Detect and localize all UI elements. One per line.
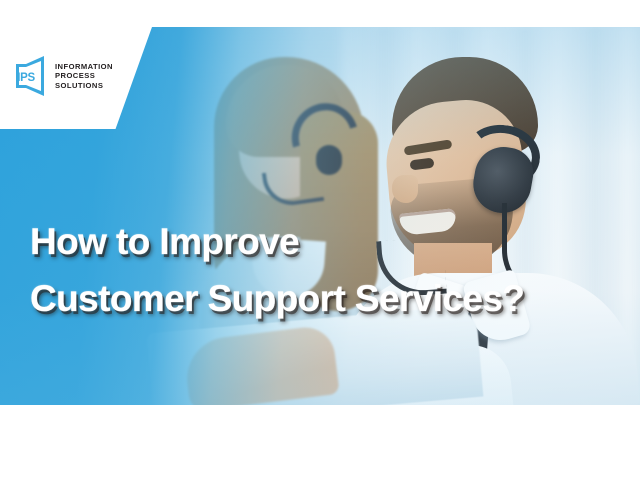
svg-text:IPS: IPS <box>17 72 35 84</box>
logo-wordmark: INFORMATION PROCESS SOLUTIONS <box>55 62 113 90</box>
ips-bracket-logo-icon: IPS <box>14 55 48 97</box>
logo-lockup[interactable]: IPS INFORMATION PROCESS SOLUTIONS <box>14 55 113 97</box>
logo-word-line-3: SOLUTIONS <box>55 81 113 90</box>
hero-banner: How to Improve Customer Support Services… <box>0 0 640 480</box>
logo-word-line-1: INFORMATION <box>55 62 113 71</box>
logo-word-line-2: PROCESS <box>55 71 113 80</box>
man-nose <box>392 175 418 203</box>
